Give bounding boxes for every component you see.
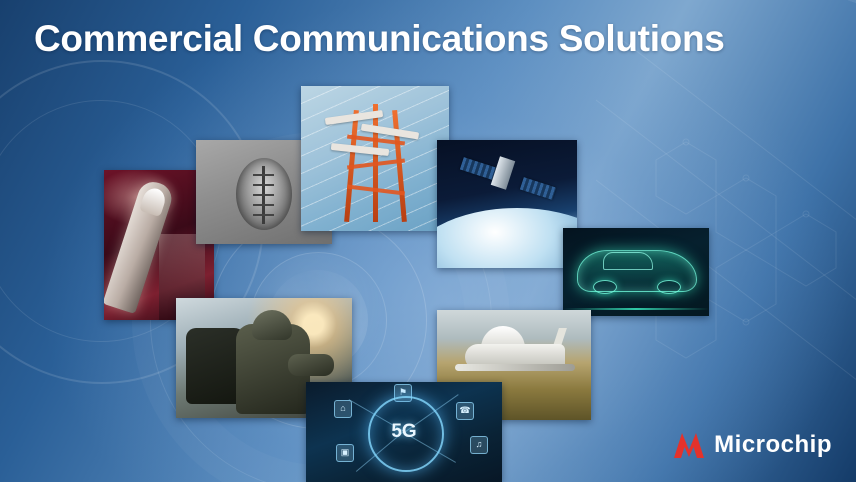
5g-label: 5G [368, 396, 440, 468]
connected-car-photo [563, 228, 709, 316]
microchip-wordmark: Microchip [714, 431, 832, 459]
node-icon-device: ▣ [336, 444, 354, 462]
5g-network-photo: ⌂ ☎ ♫ ▣ ⚑ 5G [306, 382, 502, 482]
page-title: Commercial Communications Solutions [34, 16, 774, 61]
node-icon-phone: ☎ [456, 402, 474, 420]
microchip-mark-icon [672, 430, 706, 460]
cell-tower-photo [301, 86, 449, 231]
microchip-logo: Microchip [672, 430, 832, 460]
node-icon-home: ⌂ [334, 400, 352, 418]
node-icon-media: ♫ [470, 436, 488, 454]
satellite-photo [437, 140, 577, 268]
slide-canvas: XII IX VI III Commercial Communications … [0, 0, 856, 482]
